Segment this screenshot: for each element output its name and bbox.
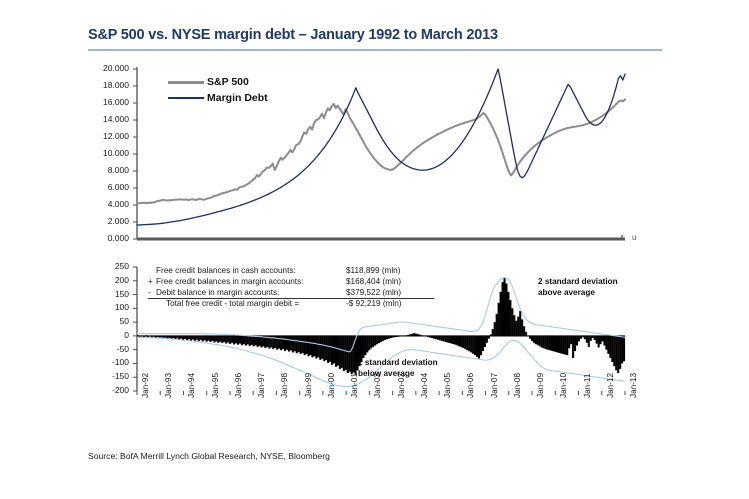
credit-row: - Debit balance in margin accounts: $379…	[148, 288, 434, 300]
xtick-Jan-13: Jan-13	[629, 373, 638, 398]
chart-page: S&P 500 vs. NYSE margin debt – January 1…	[0, 0, 749, 499]
xtick-Jan-95: Jan-95	[211, 373, 220, 398]
upper-ytick-16.000: 16.000	[85, 97, 129, 107]
credit-row: + Free credit balances in margin account…	[148, 277, 434, 288]
credit-operator: +	[148, 277, 156, 288]
upper-ytick-4.000: 4.000	[85, 199, 129, 209]
xtick-Jan-06: Jan-06	[466, 373, 475, 398]
xtick-Jan-00: Jan-00	[327, 373, 336, 398]
upper-ytick-6.000: 6.000	[85, 182, 129, 192]
credit-value: $168,404 (mln)	[346, 277, 434, 288]
lower-ytick--150: -150	[85, 371, 129, 381]
upper-ytick-20.000: 20.000	[85, 63, 129, 73]
annotation-below-line1: 2 standard deviation	[358, 358, 438, 369]
credit-operator	[148, 266, 156, 277]
lower-chart-svg	[0, 0, 749, 499]
xtick-Jan-94: Jan-94	[187, 373, 196, 398]
xtick-Jan-08: Jan-08	[513, 373, 522, 398]
credit-label: Free credit balances in cash accounts:	[156, 266, 346, 277]
xtick-Jan-01: Jan-01	[350, 373, 359, 398]
xtick-Jan-97: Jan-97	[257, 373, 266, 398]
lower-ytick-150: 150	[85, 289, 129, 299]
credit-operator	[148, 299, 156, 310]
lower-ytick--100: -100	[85, 357, 129, 367]
credit-row: Free credit balances in cash accounts: $…	[148, 266, 434, 277]
lower-ytick-50: 50	[85, 316, 129, 326]
annotation-above-line1: 2 standard deviation	[538, 277, 618, 288]
lower-ytick--50: -50	[85, 344, 129, 354]
credit-operator: -	[148, 288, 156, 299]
credit-row-total: Total free credit - total margin debit =…	[148, 299, 434, 310]
lower-ytick-0: 0	[85, 330, 129, 340]
credit-label: Debit balance in margin accounts:	[156, 288, 346, 299]
credit-summary-box: Free credit balances in cash accounts: $…	[148, 266, 434, 310]
xtick-Jan-12: Jan-12	[606, 373, 615, 398]
source-note: Source: BofA Merrill Lynch Global Resear…	[88, 451, 330, 461]
credit-value: $379,522 (mln)	[346, 288, 434, 299]
lower-ytick-250: 250	[85, 261, 129, 271]
upper-ytick-12.000: 12.000	[85, 131, 129, 141]
upper-ytick-14.000: 14.000	[85, 114, 129, 124]
lower-ytick-200: 200	[85, 275, 129, 285]
lower-ytick-100: 100	[85, 302, 129, 312]
annotation-above-average: 2 standard deviation above average	[538, 277, 618, 298]
xtick-Jan-09: Jan-09	[536, 373, 545, 398]
credit-value: $118,899 (mln)	[346, 266, 434, 277]
xtick-Jan-96: Jan-96	[234, 373, 243, 398]
upper-ytick-0.000: 0.000	[85, 233, 129, 243]
xtick-Jan-03: Jan-03	[397, 373, 406, 398]
upper-ytick-2.000: 2.000	[85, 216, 129, 226]
xtick-Jan-92: Jan-92	[141, 373, 150, 398]
lower-ytick--200: -200	[85, 385, 129, 395]
upper-ytick-8.000: 8.000	[85, 165, 129, 175]
xtick-Jan-98: Jan-98	[280, 373, 289, 398]
xtick-Jan-05: Jan-05	[443, 373, 452, 398]
credit-label: Total free credit - total margin debit =	[156, 299, 346, 310]
credit-value: -$ 92,219 (mln)	[346, 299, 434, 310]
upper-ytick-18.000: 18.000	[85, 80, 129, 90]
xtick-Jan-02: Jan-02	[373, 373, 382, 398]
credit-label: Free credit balances in margin accounts:	[156, 277, 346, 288]
xtick-Jan-11: Jan-11	[583, 374, 592, 398]
xtick-Jan-07: Jan-07	[490, 373, 499, 398]
xtick-Jan-04: Jan-04	[420, 373, 429, 398]
annotation-above-line2: above average	[538, 288, 618, 299]
upper-ytick-10.000: 10.000	[85, 148, 129, 158]
xtick-Jan-99: Jan-99	[304, 373, 313, 398]
xtick-Jan-93: Jan-93	[164, 373, 173, 398]
xtick-Jan-10: Jan-10	[559, 373, 568, 398]
